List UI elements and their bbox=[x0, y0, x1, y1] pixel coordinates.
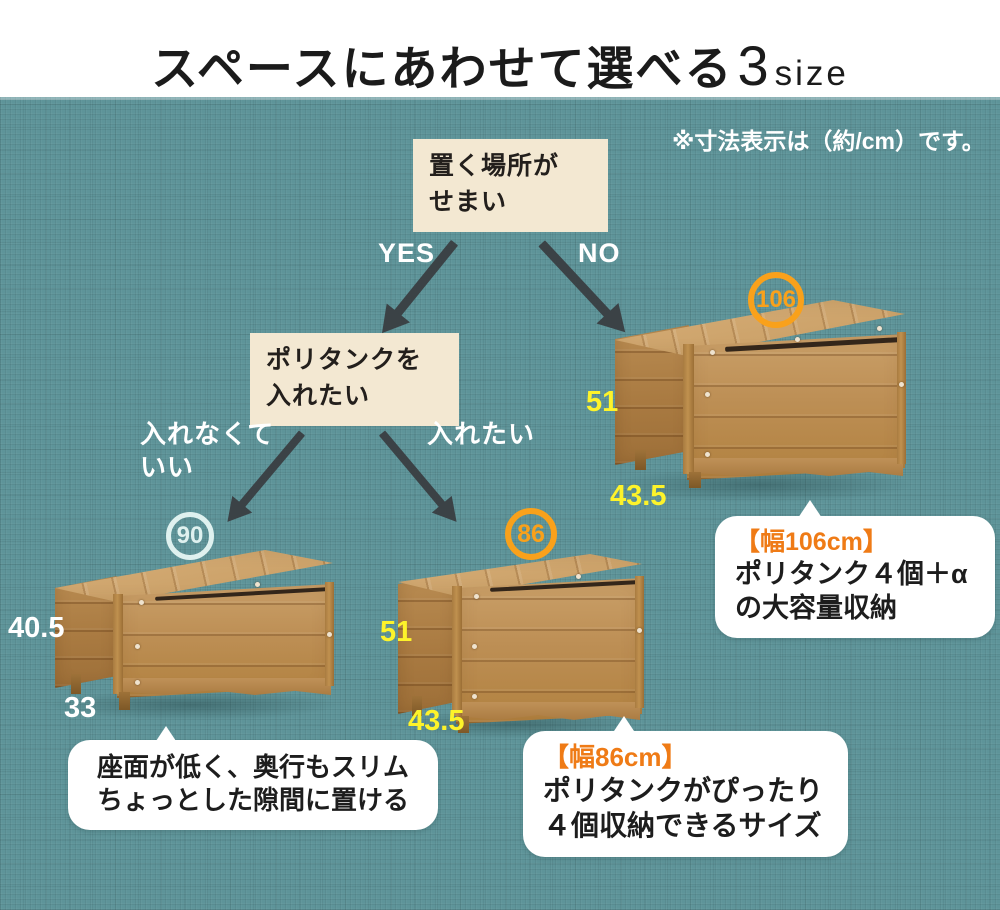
box-90-screw-5 bbox=[327, 632, 332, 637]
bubble-90: 座面が低く、奥行もスリム ちょっとした隙間に置ける bbox=[68, 740, 438, 830]
box-90-screw-1 bbox=[139, 600, 144, 605]
box-86-screw-4 bbox=[472, 694, 477, 699]
dimension-height-86: 51 bbox=[380, 616, 412, 649]
box-86-corner-post-left bbox=[452, 586, 462, 716]
box-86-screw-2 bbox=[576, 574, 581, 579]
box-106-leg-left bbox=[635, 450, 646, 470]
label-branch-right: 入れたい bbox=[427, 418, 535, 451]
box-90-leg-front bbox=[119, 692, 130, 710]
decision-box-polytank: ポリタンクを 入れたい bbox=[250, 333, 459, 426]
bubble-90-text: 座面が低く、奥行もスリム ちょっとした隙間に置ける bbox=[88, 751, 418, 817]
box-106-screw-4 bbox=[705, 392, 710, 397]
dimension-depth-90: 33 bbox=[64, 692, 96, 725]
label-yes: YES bbox=[378, 238, 435, 269]
box-90-corner-post-left bbox=[113, 594, 123, 694]
page-title-unit: size bbox=[775, 54, 849, 93]
bubble-106: 【幅106cm】 ポリタンク４個＋α の大容量収納 bbox=[715, 516, 995, 638]
bubble-86-text: ポリタンクがぴったり ４個収納できるサイズ bbox=[543, 773, 828, 844]
bubble-86-highlight: 【幅86cm】 bbox=[543, 742, 828, 773]
box-90-screw-3 bbox=[135, 644, 140, 649]
box-106-corner-post-right bbox=[897, 332, 906, 464]
bubble-tail-90 bbox=[150, 726, 182, 750]
label-no: NO bbox=[578, 238, 621, 269]
page-title: スペースにあわせて選べる3size bbox=[0, 30, 1000, 99]
box-90-leg-left bbox=[71, 674, 81, 694]
box-106-screw-3 bbox=[877, 326, 882, 331]
box-90-screw-2 bbox=[255, 582, 260, 587]
box-86-screw-3 bbox=[472, 644, 477, 649]
box-106-leg-front bbox=[689, 472, 701, 488]
box-106-corner-post-left bbox=[683, 344, 694, 474]
box-86-screw-5 bbox=[637, 628, 642, 633]
page-title-main: スペースにあわせて選べる bbox=[151, 42, 733, 95]
box-106-screw-1 bbox=[710, 350, 715, 355]
infographic-canvas: スペースにあわせて選べる3size ※寸法表示は（約/cm）です。 置く場所が … bbox=[0, 0, 1000, 910]
bubble-tail-106 bbox=[794, 500, 826, 524]
size-badge-106: 106 bbox=[748, 272, 804, 328]
box-90-screw-4 bbox=[135, 680, 140, 685]
box-86-corner-post-right bbox=[635, 576, 644, 708]
dimension-depth-106: 43.5 bbox=[610, 480, 666, 513]
box-106-screw-2 bbox=[795, 337, 800, 342]
label-branch-left: 入れなくて いい bbox=[140, 418, 274, 483]
dimension-height-106: 51 bbox=[586, 386, 618, 419]
size-badge-86: 86 bbox=[505, 508, 557, 560]
box-106-screw-5 bbox=[705, 452, 710, 457]
measurement-note: ※寸法表示は（約/cm）です。 bbox=[672, 122, 985, 156]
bubble-tail-86 bbox=[608, 716, 640, 740]
bubble-86: 【幅86cm】 ポリタンクがぴったり ４個収納できるサイズ bbox=[523, 731, 848, 857]
product-image-90 bbox=[55, 540, 340, 710]
bubble-106-highlight: 【幅106cm】 bbox=[735, 527, 975, 557]
dimension-height-90: 40.5 bbox=[8, 612, 64, 645]
dimension-depth-86: 43.5 bbox=[408, 705, 464, 738]
page-title-number: 3 bbox=[733, 34, 774, 97]
decision-box-placement: 置く場所が せまい bbox=[413, 139, 608, 232]
size-badge-90: 90 bbox=[166, 512, 214, 560]
box-106-screw-6 bbox=[899, 382, 904, 387]
bubble-106-text: ポリタンク４個＋α の大容量収納 bbox=[735, 557, 975, 625]
box-86-screw-1 bbox=[474, 594, 479, 599]
box-90-front-skirt bbox=[119, 678, 331, 695]
